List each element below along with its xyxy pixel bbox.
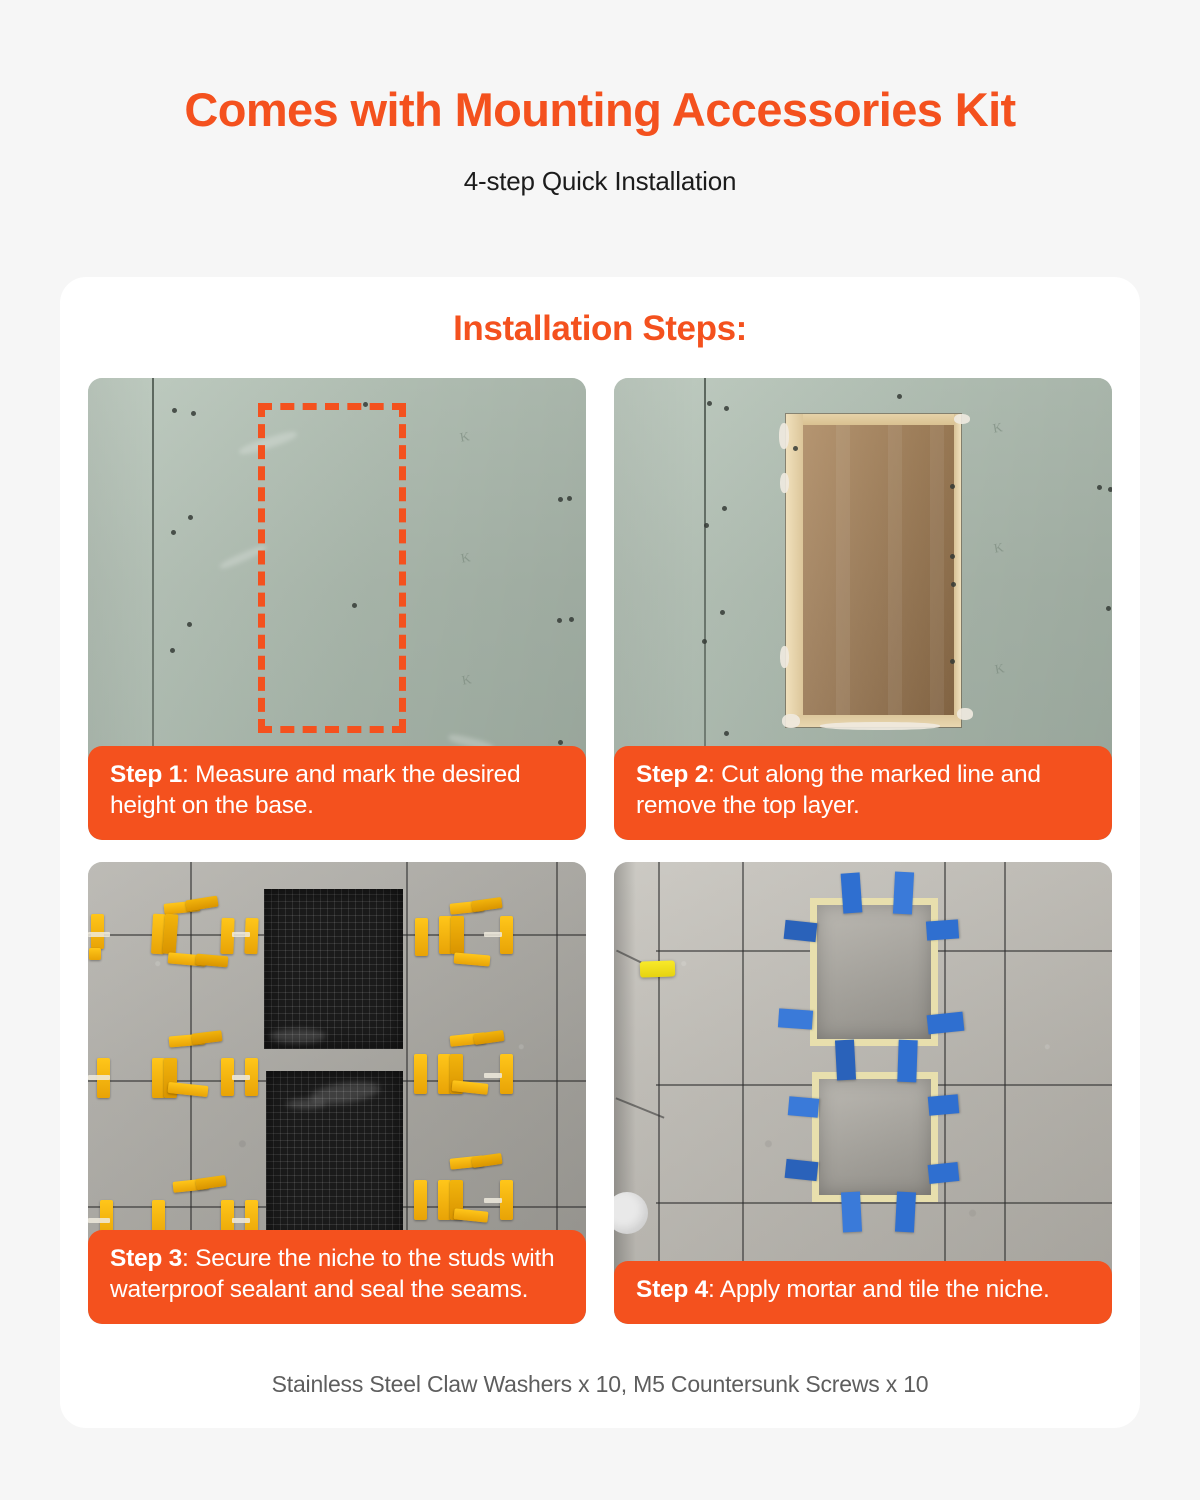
painters-tape xyxy=(784,920,818,942)
drywall-screw xyxy=(724,731,729,736)
niche-mesh-panel-top xyxy=(264,889,403,1049)
frame-screw xyxy=(793,446,798,451)
drywall-screw xyxy=(187,622,192,627)
painters-tape xyxy=(785,1159,819,1181)
clip-strap xyxy=(88,1218,110,1223)
drywall-screw xyxy=(897,394,902,399)
drywall-screw xyxy=(172,408,177,413)
drywall-screw xyxy=(191,411,196,416)
drywall-screw xyxy=(170,648,175,653)
niche-frame-top xyxy=(810,898,938,1046)
painters-tape xyxy=(841,1192,862,1233)
leveling-clip xyxy=(163,914,179,955)
clip-strap xyxy=(232,1075,250,1080)
drywall-screw xyxy=(702,639,707,644)
step-card-3[interactable]: Step 3: Secure the niche to the studs wi… xyxy=(88,862,586,1324)
steps-grid: K K K Step 1: Measure and mark the desir… xyxy=(88,378,1112,1324)
step-card-2[interactable]: K K K xyxy=(614,378,1112,840)
painters-tape xyxy=(778,1008,813,1029)
step-1-label: Step 1 xyxy=(110,761,182,788)
step-4-label: Step 4 xyxy=(636,1276,708,1303)
niche-backer-board xyxy=(802,424,955,716)
clip-strap xyxy=(88,1075,110,1080)
drywall-screw xyxy=(1106,606,1111,611)
drywall-screw xyxy=(707,401,712,406)
niche-frame-right xyxy=(954,414,961,727)
painters-tape xyxy=(893,872,914,915)
step-4-photo xyxy=(614,862,1112,1324)
drywall-screw xyxy=(569,617,574,622)
drywall-screw xyxy=(704,523,709,528)
wall-corner-shadow xyxy=(614,862,636,1324)
mesh-highlight xyxy=(286,1099,326,1109)
frame-screw xyxy=(950,484,955,489)
drywall-screw xyxy=(567,496,572,501)
mesh-highlight xyxy=(270,1029,326,1043)
grout-line-vertical xyxy=(1004,862,1006,1324)
painters-tape xyxy=(928,1162,960,1184)
leveling-clip xyxy=(89,948,101,960)
clip-strap xyxy=(88,932,110,937)
niche-frame-bottom xyxy=(812,1072,938,1202)
painters-tape xyxy=(788,1096,820,1118)
step-2-separator: : xyxy=(708,761,721,788)
step-4-caption: Step 4: Apply mortar and tile the niche. xyxy=(614,1261,1112,1324)
leveling-clip xyxy=(414,1180,427,1220)
painters-tape xyxy=(841,872,863,913)
painters-tape xyxy=(928,1094,960,1116)
accessories-note: Stainless Steel Claw Washers x 10, M5 Co… xyxy=(60,1371,1140,1398)
painters-tape xyxy=(926,919,959,940)
step-card-4[interactable]: Step 4: Apply mortar and tile the niche. xyxy=(614,862,1112,1324)
step-3-label: Step 3 xyxy=(110,1245,182,1272)
page-subtitle: 4-step Quick Installation xyxy=(0,166,1200,197)
clip-strap xyxy=(232,932,250,937)
frame-screw xyxy=(950,554,955,559)
clip-strap xyxy=(484,1073,502,1078)
leveling-clip xyxy=(415,918,428,956)
niche-frame-left xyxy=(786,414,803,727)
page-title: Comes with Mounting Accessories Kit xyxy=(0,84,1200,136)
clip-strap xyxy=(484,932,502,937)
drywall-screw xyxy=(720,610,725,615)
niche-opening xyxy=(786,414,961,727)
step-2-label: Step 2 xyxy=(636,761,708,788)
joint-compound xyxy=(957,708,973,720)
joint-compound xyxy=(782,714,800,728)
step-4-text: Apply mortar and tile the niche. xyxy=(720,1276,1050,1303)
drywall-screw xyxy=(557,618,562,623)
marked-cut-outline xyxy=(258,403,406,733)
leveling-wedge xyxy=(640,960,676,977)
drywall-screw xyxy=(558,740,563,745)
clip-strap xyxy=(232,1218,250,1223)
joint-compound xyxy=(820,722,940,730)
grout-line-vertical xyxy=(658,862,660,1324)
page-header: Comes with Mounting Accessories Kit 4-st… xyxy=(0,0,1200,197)
installation-infographic: Comes with Mounting Accessories Kit 4-st… xyxy=(0,0,1200,1500)
clip-strap xyxy=(484,1198,502,1203)
frame-screw xyxy=(950,659,955,664)
card-heading: Installation Steps: xyxy=(60,277,1140,349)
painters-tape xyxy=(895,1192,916,1233)
joint-compound xyxy=(780,473,789,493)
painters-tape xyxy=(927,1012,965,1035)
painters-tape xyxy=(835,1040,856,1081)
drywall-screw xyxy=(188,515,193,520)
leveling-clip xyxy=(414,1054,427,1094)
joint-compound xyxy=(780,646,789,668)
niche-frame-top xyxy=(786,414,961,425)
drywall-screw xyxy=(724,406,729,411)
drywall-screw xyxy=(1097,485,1102,490)
installation-steps-card: Installation Steps: xyxy=(60,277,1140,1428)
backer-streak xyxy=(930,424,944,716)
step-3-separator: : xyxy=(182,1245,195,1272)
step-3-caption: Step 3: Secure the niche to the studs wi… xyxy=(88,1230,586,1324)
niche-mesh-panel-bottom xyxy=(266,1071,403,1246)
leveling-clip xyxy=(451,916,464,954)
step-1-separator: : xyxy=(182,761,195,788)
step-4-separator: : xyxy=(708,1276,720,1303)
step-1-caption: Step 1: Measure and mark the desired hei… xyxy=(88,746,586,840)
backer-streak xyxy=(888,424,902,716)
backer-streak xyxy=(836,424,850,716)
drywall-screw xyxy=(171,530,176,535)
painters-tape xyxy=(897,1040,917,1083)
frame-screw xyxy=(951,582,956,587)
drywall-screw xyxy=(722,506,727,511)
grout-line-vertical xyxy=(742,862,744,1324)
drywall-screw xyxy=(1108,487,1112,492)
grout-line-horizontal xyxy=(656,1202,1112,1204)
joint-compound xyxy=(954,414,970,424)
step-2-caption: Step 2: Cut along the marked line and re… xyxy=(614,746,1112,840)
joint-compound xyxy=(779,423,789,449)
drywall-screw xyxy=(558,497,563,502)
step-card-1[interactable]: K K K Step 1: Measure and mark the desir… xyxy=(88,378,586,840)
